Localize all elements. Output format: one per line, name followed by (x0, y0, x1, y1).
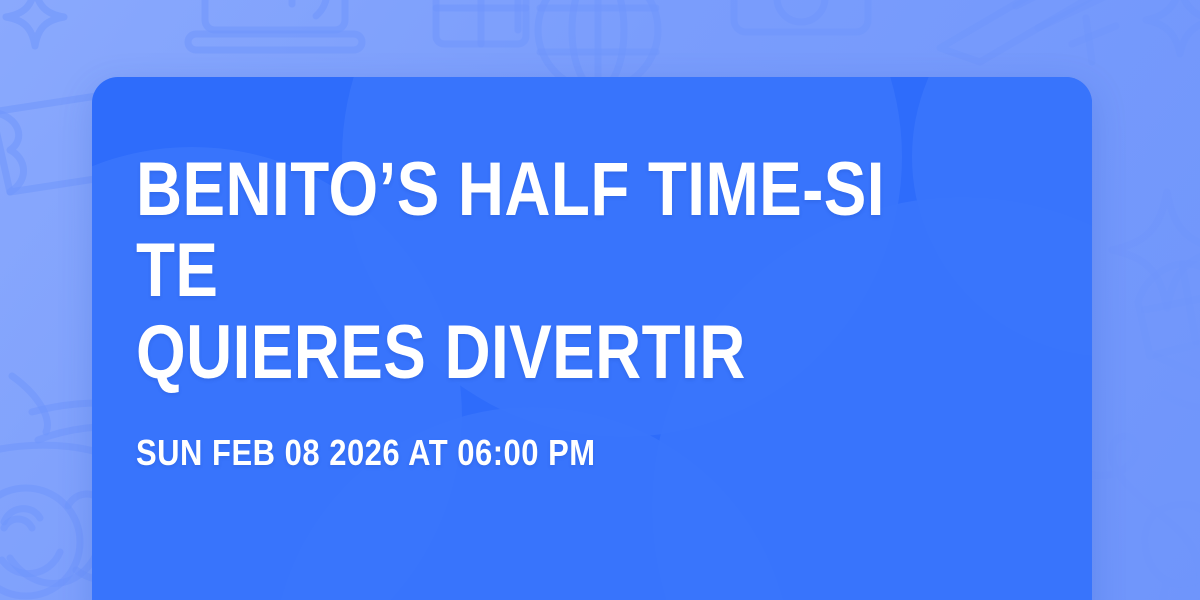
event-banner: BENITO’S HALF TIME-SI TE QUIERES DIVERTI… (0, 0, 1200, 600)
laptop-icon (180, 0, 370, 72)
confetti-swirl-icon (0, 250, 100, 430)
microphone-icon (1096, 236, 1200, 436)
gift-icon (420, 0, 540, 58)
camera-icon (722, 0, 882, 44)
pin-icon (498, 0, 538, 50)
confetti-icon (1058, 4, 1148, 84)
card-content: BENITO’S HALF TIME-SI TE QUIERES DIVERTI… (136, 77, 1048, 600)
sparkle-icon (1102, 180, 1200, 320)
event-card: BENITO’S HALF TIME-SI TE QUIERES DIVERTI… (92, 77, 1092, 600)
flag-icon (920, 0, 1140, 70)
event-date: SUN FEB 08 2026 AT 06:00 PM (136, 393, 920, 473)
balloon-icon (1110, 470, 1200, 600)
sparkle-icon (0, 0, 70, 52)
event-title: BENITO’S HALF TIME-SI TE QUIERES DIVERTI… (136, 149, 902, 393)
sparkle-icon (1140, 0, 1200, 60)
